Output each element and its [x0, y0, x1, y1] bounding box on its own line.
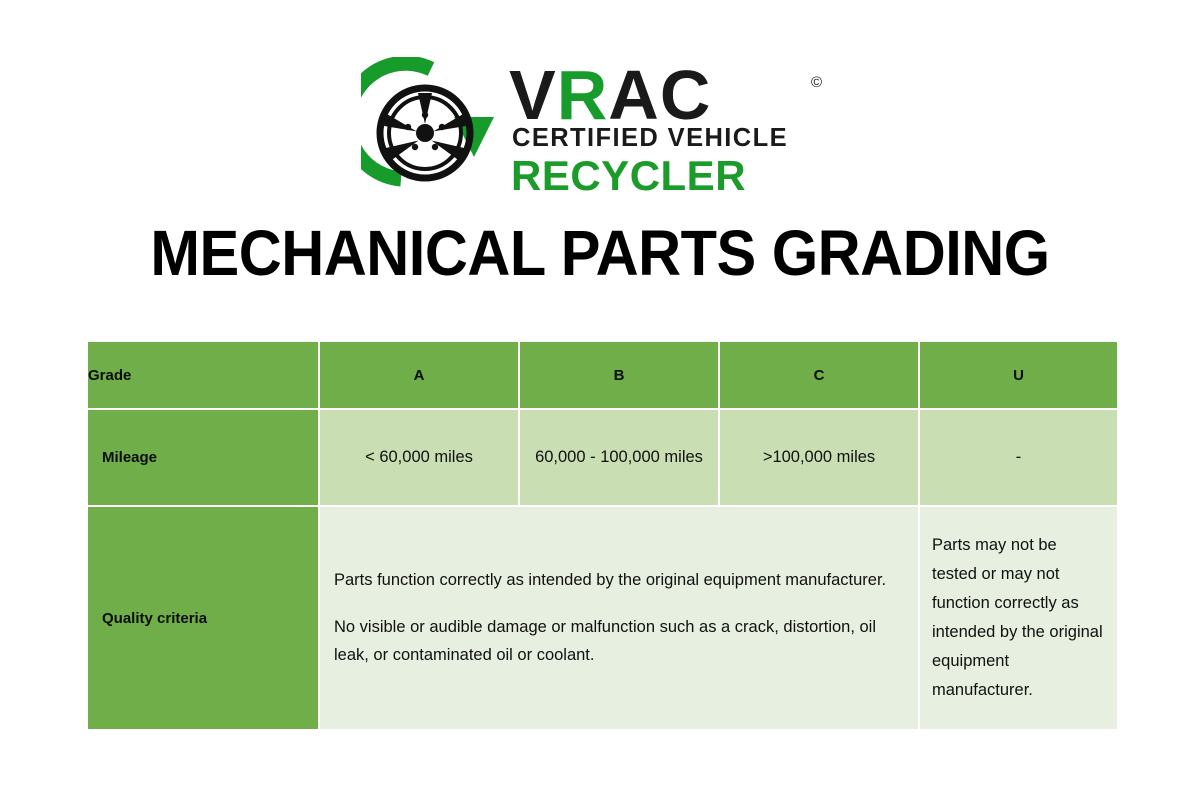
page-title: MECHANICAL PARTS GRADING [42, 216, 1158, 290]
mileage-grade-b: 60,000 - 100,000 miles [520, 410, 718, 505]
table-row-quality-criteria: Quality criteria Parts function correctl… [88, 507, 1117, 729]
logo-letters-ac: AC [608, 56, 711, 134]
mileage-grade-a: < 60,000 miles [320, 410, 518, 505]
table-header-row: Grade A B C U [88, 342, 1117, 408]
mileage-grade-c: >100,000 miles [720, 410, 918, 505]
logo-letter-v: V [509, 56, 557, 134]
header-grade-label: Grade [88, 342, 318, 408]
vrac-wheel-recycle-logo-icon [361, 57, 501, 197]
brand-logo: VRAC © CERTIFIED VEHICLE RECYCLER [0, 52, 1200, 202]
logo-tagline: CERTIFIED VEHICLE [512, 126, 788, 152]
row-label-quality-criteria: Quality criteria [88, 507, 318, 729]
quality-abc-paragraph-1: Parts function correctly as intended by … [334, 566, 904, 595]
quality-criteria-grades-abc: Parts function correctly as intended by … [320, 507, 918, 729]
logo-vrac-text: VRAC [509, 60, 711, 130]
logo-wordmark: VRAC © CERTIFIED VEHICLE RECYCLER [509, 60, 839, 195]
header-grade-c: C [720, 342, 918, 408]
header-grade-a: A [320, 342, 518, 408]
mileage-grade-u: - [920, 410, 1117, 505]
quality-criteria-grade-u: Parts may not be tested or may not funct… [920, 507, 1117, 729]
quality-abc-paragraph-2: No visible or audible damage or malfunct… [334, 613, 904, 671]
copyright-icon: © [811, 74, 822, 91]
header-grade-b: B [520, 342, 718, 408]
header-grade-u: U [920, 342, 1117, 408]
logo-inner: VRAC © CERTIFIED VEHICLE RECYCLER [361, 57, 839, 197]
logo-letter-r: R [557, 56, 609, 134]
row-label-mileage: Mileage [88, 410, 318, 505]
logo-recycler-text: RECYCLER [511, 155, 746, 197]
mechanical-parts-grading-table: Grade A B C U Mileage < 60,000 miles 60,… [86, 340, 1119, 731]
table-row-mileage: Mileage < 60,000 miles 60,000 - 100,000 … [88, 410, 1117, 505]
